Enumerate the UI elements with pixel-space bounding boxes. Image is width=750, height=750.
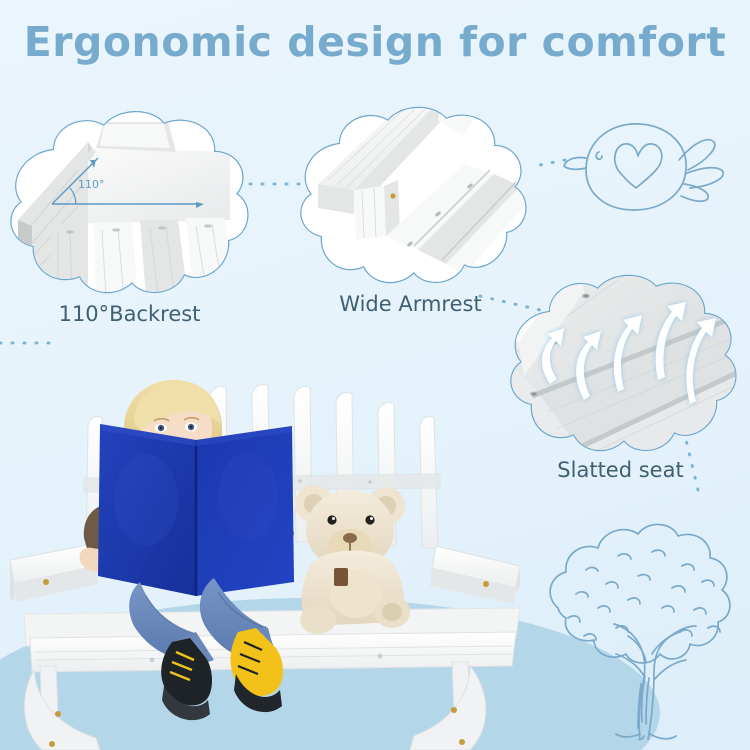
bird-doodle xyxy=(548,112,748,227)
child-reading-on-rocking-chair xyxy=(0,370,560,750)
screw-icon xyxy=(43,579,49,585)
callout-label-backrest: 110°Backrest xyxy=(0,302,267,326)
page-title: Ergonomic design for comfort xyxy=(0,18,750,66)
callout-label-armrest: Wide Armrest xyxy=(288,292,533,316)
armrest-product-image xyxy=(288,98,533,289)
screw-icon xyxy=(49,741,55,747)
backrest-product-image xyxy=(0,108,267,298)
callout-armrest[interactable]: Wide Armrest xyxy=(288,104,533,289)
teddy-bear xyxy=(295,485,410,634)
screw-icon xyxy=(483,581,489,587)
tree-doodle xyxy=(528,512,743,740)
infographic-stage: Ergonomic design for comfort xyxy=(0,0,750,750)
angle-value: 110° xyxy=(78,178,105,191)
blue-book xyxy=(98,424,294,596)
screw-icon xyxy=(451,707,457,713)
screw-icon xyxy=(55,711,61,717)
screw-icon xyxy=(459,739,465,745)
screw-icon xyxy=(390,193,395,198)
callout-backrest[interactable]: 110° 110°Backrest xyxy=(0,108,267,298)
